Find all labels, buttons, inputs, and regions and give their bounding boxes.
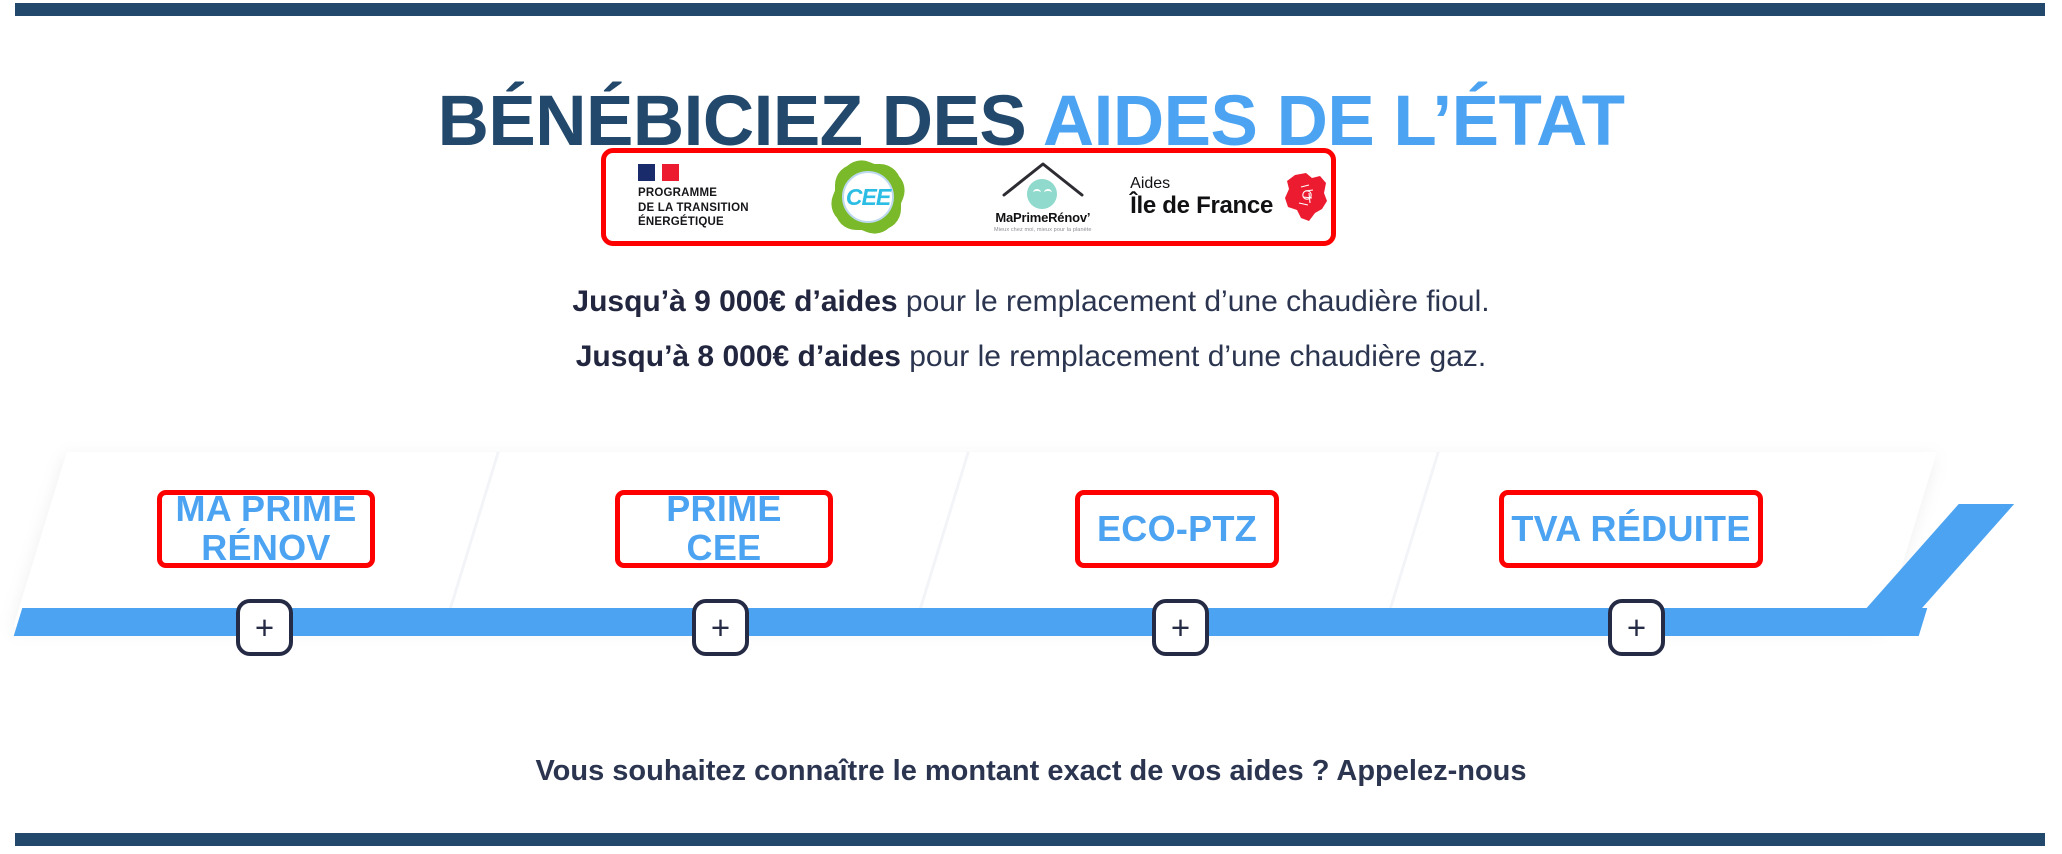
plus-icon-2: + xyxy=(1171,611,1190,644)
bottom-divider-bar xyxy=(15,833,2045,846)
aid-card-eco-ptz[interactable]: ECO-PTZ xyxy=(1075,490,1279,568)
aid-card-label-3: TVA RÉDUITE xyxy=(1511,510,1750,549)
aid-amount-line-fioul: Jusqu’à 9 000€ d’aides pour le remplacem… xyxy=(0,285,2062,319)
call-prompt-text: Vous souhaitez connaître le montant exac… xyxy=(0,755,2062,788)
aid-amount-line-gaz: Jusqu’à 8 000€ d’aides pour le remplacem… xyxy=(0,340,2062,374)
aid-card-prime-cee[interactable]: PRIME CEE xyxy=(615,490,833,568)
smiley-face-icon xyxy=(1027,179,1057,209)
expand-button-tva-reduite[interactable]: + xyxy=(1608,599,1665,656)
plus-icon-0: + xyxy=(255,611,274,644)
aid-amount-gaz-bold: Jusqu’à 8 000€ d’aides xyxy=(576,340,901,373)
aid-card-label-1: PRIME CEE xyxy=(666,490,782,568)
top-divider-bar xyxy=(15,3,2045,16)
french-flag-icon xyxy=(638,164,679,181)
idf-line-1: Aides xyxy=(1130,176,1273,192)
aid-amount-fioul-bold: Jusqu’à 9 000€ d’aides xyxy=(572,285,897,318)
pte-line-1: PROGRAMME xyxy=(638,186,749,201)
page-title: BÉNÉBICIEZ DES AIDES DE L’ÉTAT xyxy=(0,86,2062,157)
maprimerenov-label: MaPrimeRénov’ xyxy=(995,210,1090,225)
aid-amount-fioul-rest: pour le remplacement d’une chaudière fio… xyxy=(898,285,1490,318)
pte-line-3: ÉNERGÉTIQUE xyxy=(638,215,749,230)
aid-card-label-2: ECO-PTZ xyxy=(1097,510,1257,549)
house-roof-icon xyxy=(1002,161,1084,209)
plus-icon-1: + xyxy=(711,611,730,644)
ile-de-france-map-icon xyxy=(1279,171,1331,223)
aid-amount-gaz-rest: pour le remplacement d’une chaudière gaz… xyxy=(901,340,1486,373)
expand-button-ma-prime-renov[interactable]: + xyxy=(236,599,293,656)
expand-button-eco-ptz[interactable]: + xyxy=(1152,599,1209,656)
expand-button-prime-cee[interactable]: + xyxy=(692,599,749,656)
pte-line-2: DE LA TRANSITION xyxy=(638,201,749,216)
logo-aides-ile-de-france: Aides Île de France xyxy=(1130,153,1331,241)
aid-card-ma-prime-renov[interactable]: MA PRIME RÉNOV xyxy=(157,490,375,568)
cee-label: CEE xyxy=(846,184,890,211)
aid-card-tva-reduite[interactable]: TVA RÉDUITE xyxy=(1499,490,1763,568)
cee-badge-icon: CEE xyxy=(835,164,901,230)
aid-card-label-0: MA PRIME RÉNOV xyxy=(175,490,356,568)
maprimerenov-tagline: Mieux chez moi, mieux pour la planète xyxy=(994,227,1092,233)
logo-maprimerenov: MaPrimeRénov’ Mieux chez moi, mieux pour… xyxy=(955,153,1130,241)
idf-line-2: Île de France xyxy=(1130,194,1273,218)
partner-logos-strip: PROGRAMME DE LA TRANSITION ÉNERGÉTIQUE C… xyxy=(601,148,1336,246)
logo-cee: CEE xyxy=(781,153,956,241)
logo-programme-transition-energetique: PROGRAMME DE LA TRANSITION ÉNERGÉTIQUE xyxy=(606,153,781,241)
plus-icon-3: + xyxy=(1627,611,1646,644)
